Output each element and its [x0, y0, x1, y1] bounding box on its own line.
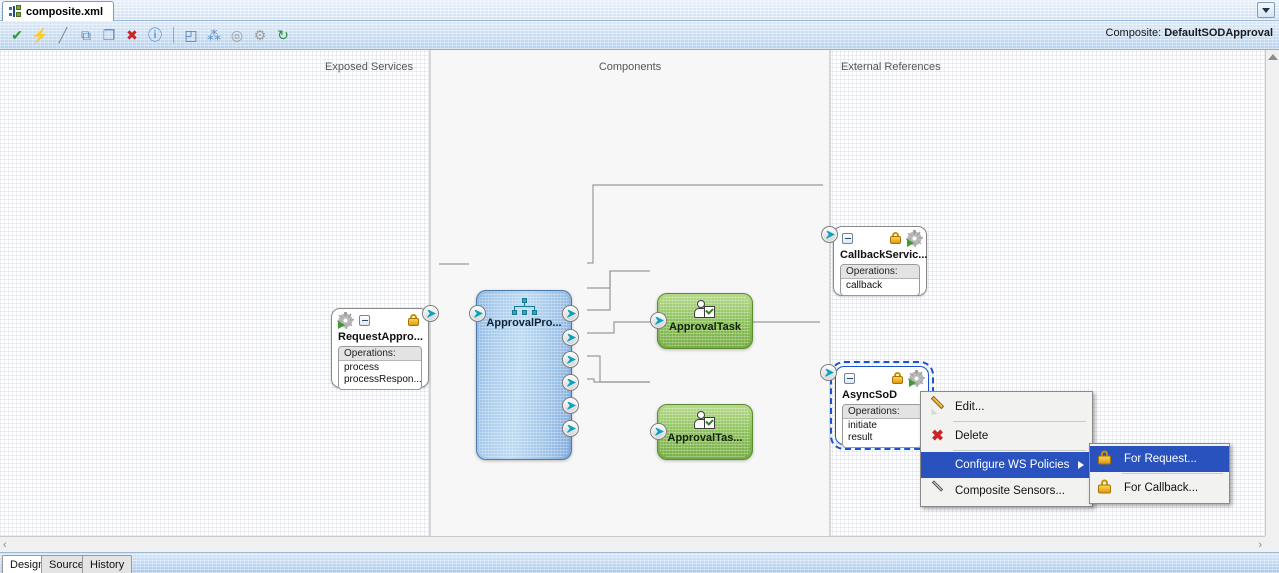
submenu-item-for-callback[interactable]: For Callback...	[1090, 475, 1229, 501]
reference-node-header-async	[836, 367, 928, 389]
bpel-component-approvalprocess[interactable]: ApprovalPro...	[476, 290, 572, 460]
composite-name-label: Composite: DefaultSODApproval	[1106, 27, 1274, 39]
exposed-service-node-requestapproval[interactable]: RequestAppro... Operations: process proc…	[331, 308, 429, 388]
human-task-label: ApprovalTask	[658, 321, 752, 333]
pencil-icon	[929, 399, 946, 416]
info-icon[interactable]: ⓘ	[144, 24, 166, 46]
bpel-input-port[interactable]	[469, 305, 486, 322]
sensor-icon	[929, 483, 946, 500]
submenu-separator	[1122, 473, 1223, 474]
operations-list-callback: callback	[841, 279, 919, 295]
test-icon-glyph: ⁂	[207, 28, 221, 42]
service-node-title: RequestAppro...	[332, 331, 428, 343]
toolbar-separator	[173, 27, 174, 43]
operation-item: process	[344, 362, 416, 374]
scrollbar-corner	[1265, 536, 1279, 552]
collapse-toggle-icon-callback[interactable]	[842, 233, 853, 244]
expand-all-icon[interactable]: ⧉	[75, 24, 97, 46]
lock-icon-callback	[890, 232, 901, 244]
service-operations-box: Operations: process processRespon...	[338, 346, 422, 390]
validate-icon[interactable]: ✔	[6, 24, 28, 46]
up-arrow-icon[interactable]	[1268, 54, 1278, 60]
menu-separator	[953, 421, 1086, 422]
reference-node-header	[834, 227, 926, 249]
composite-file-icon	[9, 5, 22, 18]
lock-icon-async	[892, 372, 903, 384]
collapse-all-icon[interactable]: ❐	[98, 24, 120, 46]
policy-icon-glyph: ⚙	[254, 28, 267, 42]
composite-value: DefaultSODApproval	[1164, 27, 1273, 39]
operations-list-async: initiate result	[843, 419, 921, 447]
document-tab-label: composite.xml	[26, 6, 103, 18]
collapse-toggle-icon-async[interactable]	[844, 373, 855, 384]
wire-bpel-to-approvaltask-a	[587, 271, 650, 288]
lock-icon	[1098, 480, 1115, 497]
bpel-process-icon	[510, 298, 538, 316]
collapse-all-icon-glyph: ❐	[103, 28, 116, 42]
vertical-scrollbar[interactable]	[1265, 50, 1279, 536]
validate-icon-glyph: ✔	[11, 28, 23, 42]
collapse-toggle-icon[interactable]	[359, 315, 370, 326]
generate-icon[interactable]: ⚡	[29, 24, 51, 46]
caret-glyph	[1262, 8, 1270, 13]
menu-item-composite-sensors[interactable]: Composite Sensors...	[921, 478, 1092, 504]
reference-operations-box-async: Operations: initiate result	[842, 404, 922, 448]
submenu-item-label: For Request...	[1124, 453, 1197, 465]
wire-tool-icon[interactable]: ╱	[52, 24, 74, 46]
human-task-icon-2	[694, 411, 716, 430]
operation-item: result	[848, 432, 916, 444]
menu-item-label: Configure WS Policies	[955, 459, 1069, 471]
operation-item: callback	[846, 280, 914, 292]
info-icon-glyph: ⓘ	[148, 28, 162, 42]
submenu-item-label: For Callback...	[1124, 482, 1198, 494]
security-icon-glyph: ◎	[231, 28, 243, 42]
test-icon[interactable]: ⁂	[203, 24, 225, 46]
operation-item: processRespon...	[344, 374, 416, 386]
human-task-node-approvaltask[interactable]: ApprovalTask	[657, 293, 753, 349]
security-icon[interactable]: ◎	[226, 24, 248, 46]
design-canvas[interactable]: Exposed Services Components External Ref…	[0, 50, 1265, 536]
bpel-output-port-3[interactable]	[562, 351, 579, 368]
generate-icon-glyph: ⚡	[31, 28, 48, 42]
callbackservice-input-port[interactable]	[821, 226, 838, 243]
horizontal-scrollbar[interactable]: ‹ ›	[0, 536, 1265, 552]
operations-header-callback: Operations:	[841, 265, 919, 279]
lock-icon	[408, 314, 419, 326]
bpel-output-port-4[interactable]	[562, 374, 579, 391]
deploy-icon-glyph: ◰	[184, 28, 197, 42]
wire-bpel-to-callbackservice	[587, 185, 823, 263]
external-reference-node-asyncsod[interactable]: AsyncSoD Operations: initiate result	[835, 366, 929, 445]
approvaltask2-input-port[interactable]	[650, 423, 667, 440]
bpel-component-label: ApprovalPro...	[477, 317, 571, 329]
submenu-arrow-icon	[1078, 461, 1084, 469]
refresh-icon[interactable]: ↻	[272, 24, 294, 46]
service-output-port[interactable]	[422, 305, 439, 322]
chevron-down-icon[interactable]	[1257, 2, 1275, 18]
approvaltask-input-port[interactable]	[650, 312, 667, 329]
menu-item-delete[interactable]: ✖ Delete	[921, 423, 1092, 449]
menu-item-edit[interactable]: Edit...	[921, 394, 1092, 420]
delete-icon: ✖	[929, 428, 946, 445]
bottombar-texture	[0, 553, 1279, 573]
bpel-output-port-1[interactable]	[562, 305, 579, 322]
operations-header-async: Operations:	[843, 405, 921, 419]
document-tab-strip: composite.xml	[0, 0, 1279, 21]
reference-gear-icon-callback	[907, 231, 922, 246]
delete-icon-glyph: ✖	[126, 28, 138, 42]
tabstrip-texture	[0, 0, 1279, 20]
gear-arrow-glyph	[907, 239, 914, 247]
wire-bpel-to-approvaltask-b	[587, 271, 610, 310]
scroll-right-arrow-icon[interactable]: ›	[1258, 539, 1262, 551]
reference-node-title-async: AsyncSoD	[836, 389, 928, 401]
external-reference-node-callbackservice[interactable]: CallbackServic... Operations: callback	[833, 226, 927, 296]
editor-toolbar: ✔⚡╱⧉❐✖ⓘ◰⁂◎⚙↻ Composite: DefaultSODApprov…	[0, 21, 1279, 50]
service-gear-icon	[338, 313, 353, 328]
wire-bpel-to-approvaltask2-a	[587, 356, 650, 382]
context-submenu-ws-policies[interactable]: For Request... For Callback...	[1089, 443, 1230, 504]
menu-item-label: Delete	[955, 430, 988, 442]
wire-tool-icon-glyph: ╱	[59, 28, 67, 42]
bpel-output-port-6[interactable]	[562, 420, 579, 437]
composite-prefix: Composite:	[1106, 27, 1162, 39]
scroll-left-arrow-icon[interactable]: ‹	[3, 539, 7, 551]
delete-icon[interactable]: ✖	[121, 24, 143, 46]
human-task-icon	[694, 300, 716, 319]
tab-source-label: Source	[49, 559, 84, 571]
deploy-icon[interactable]: ◰	[180, 24, 202, 46]
menu-item-label: Composite Sensors...	[955, 485, 1065, 497]
policy-icon[interactable]: ⚙	[249, 24, 271, 46]
wire-bpel-to-approvaltask2-b	[587, 379, 650, 382]
tab-history-label: History	[90, 559, 124, 571]
menu-item-label: Edit...	[955, 401, 984, 413]
expand-all-icon-glyph: ⧉	[81, 28, 91, 42]
operation-item: initiate	[848, 420, 916, 432]
editor-view-tabs: Design Source History	[0, 552, 1279, 573]
bpel-output-port-5[interactable]	[562, 397, 579, 414]
document-tab-composite-xml[interactable]: composite.xml	[2, 1, 114, 21]
gear-arrow-glyph	[909, 379, 916, 387]
reference-node-title-callback: CallbackServic...	[834, 249, 926, 261]
operations-list: process processRespon...	[339, 361, 421, 389]
reference-gear-icon-async	[909, 371, 924, 386]
menu-separator	[953, 450, 1086, 451]
operations-header: Operations:	[339, 347, 421, 361]
tab-design-label: Design	[10, 559, 44, 571]
lock-icon	[1098, 451, 1115, 468]
service-node-header	[332, 309, 428, 331]
refresh-icon-glyph: ↻	[277, 28, 289, 42]
reference-operations-box-callback: Operations: callback	[840, 264, 920, 296]
tab-history[interactable]: History	[82, 555, 132, 573]
submenu-item-for-request[interactable]: For Request...	[1090, 446, 1229, 472]
human-task-label-2: ApprovalTas...	[658, 432, 752, 444]
jdeveloper-composite-editor: composite.xml ✔⚡╱⧉❐✖ⓘ◰⁂◎⚙↻ Composite: De…	[0, 0, 1279, 573]
asyncsod-input-port[interactable]	[820, 364, 837, 381]
context-menu[interactable]: Edit... ✖ Delete Configure WS Policies C…	[920, 391, 1093, 507]
menu-item-configure-ws-policies[interactable]: Configure WS Policies	[921, 452, 1092, 478]
gear-arrow-glyph	[338, 321, 345, 329]
human-task-node-approvaltask2[interactable]: ApprovalTas...	[657, 404, 753, 460]
bpel-output-port-2[interactable]	[562, 329, 579, 346]
